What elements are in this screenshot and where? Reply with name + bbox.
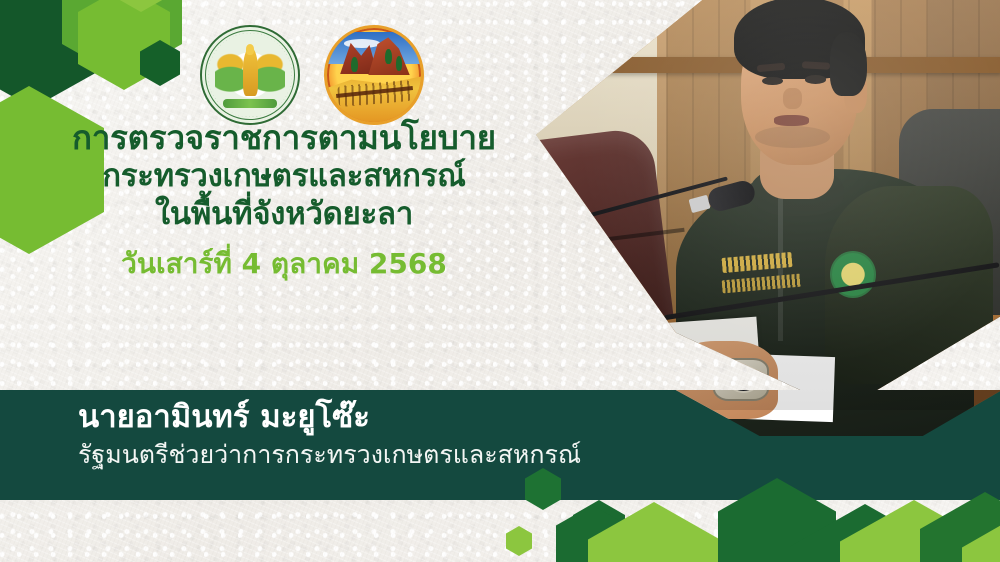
seal-base-band [223, 99, 277, 108]
title-line-3: ในพื้นที่จังหวัดยะลา [34, 196, 534, 234]
speaker-name: นายอามินทร์ มะยูโซ๊ะ [78, 398, 638, 437]
logo-row [200, 25, 424, 125]
headline-block: การตรวจราชการตามนโยบาย กระทรวงเกษตรและสห… [34, 118, 534, 286]
speaker-title: รัฐมนตรีช่วยว่าการกระทรวงเกษตรและสหกรณ์ [78, 439, 638, 472]
seal-deity-head [246, 44, 255, 55]
event-date: วันเสาร์ที่ 4 ตุลาคม 2568 [34, 242, 534, 286]
seal-deity-figure [243, 48, 257, 96]
ministry-of-agriculture-and-cooperatives-seal-icon [200, 25, 300, 125]
poster-canvas: การตรวจราชการตามนโยบาย กระทรวงเกษตรและสห… [0, 0, 1000, 562]
title-line-2: กระทรวงเกษตรและสหกรณ์ [34, 158, 534, 196]
title-line-1: การตรวจราชการตามนโยบาย [34, 118, 534, 158]
speaker-identity-block: นายอามินทร์ มะยูโซ๊ะ รัฐมนตรีช่วยว่าการก… [78, 398, 638, 471]
yala-province-seal-icon [324, 25, 424, 125]
seal-tree-1 [351, 57, 358, 72]
seal-tree-3 [396, 56, 403, 71]
seal-cloud [344, 39, 380, 47]
seal-tree-2 [385, 49, 392, 64]
